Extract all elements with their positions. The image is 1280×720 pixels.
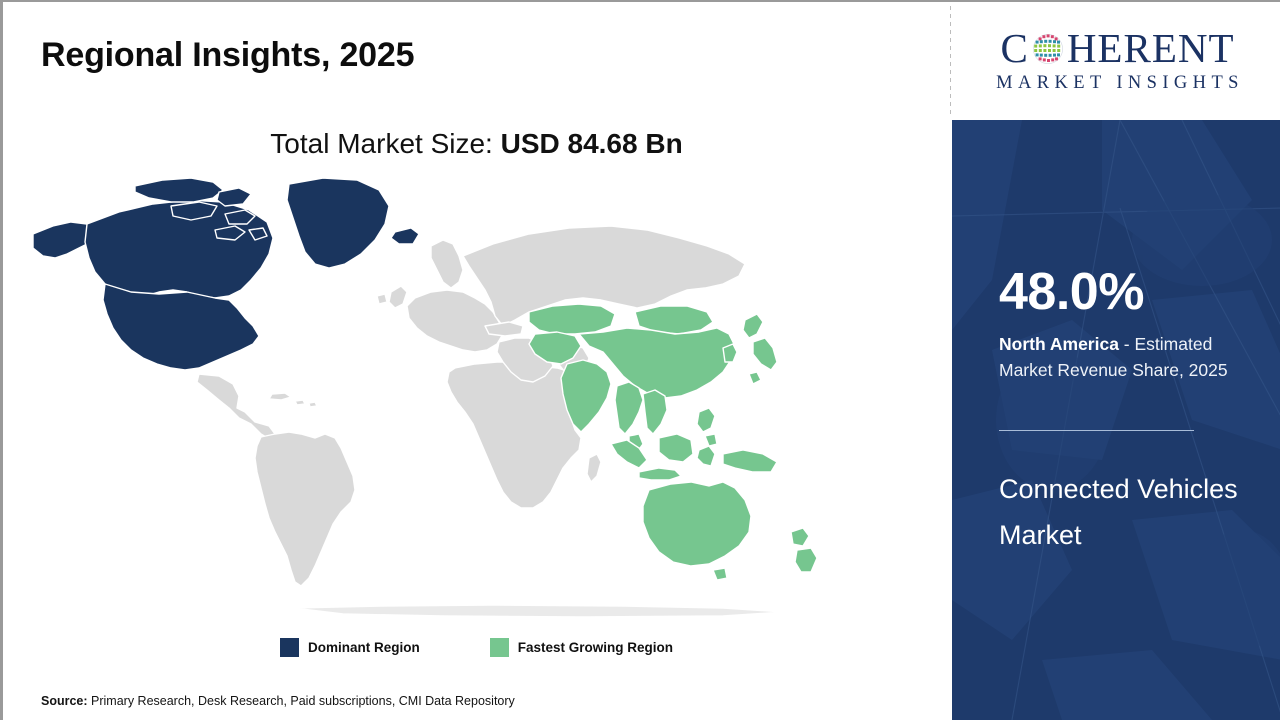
logo-wordmark: C xyxy=(1000,28,1234,69)
world-map-container xyxy=(23,172,923,622)
total-market-size: Total Market Size: USD 84.68 Bn xyxy=(3,128,950,160)
stat-percentage: 48.0% xyxy=(999,266,1144,318)
legend-swatch-dominant xyxy=(280,638,299,657)
vertical-divider xyxy=(950,6,951,118)
legend-swatch-fastest-growing xyxy=(490,638,509,657)
market-name: Connected Vehicles Market xyxy=(999,467,1249,559)
world-map-svg xyxy=(23,172,923,622)
left-content-pane: Regional Insights, 2025 Total Market Siz… xyxy=(3,2,950,720)
market-size-value: USD 84.68 Bn xyxy=(501,128,683,159)
right-sidebar: C xyxy=(952,2,1280,720)
logo-letter-c: C xyxy=(1000,28,1028,69)
stat-divider-rule xyxy=(999,430,1194,431)
stat-panel-content: 48.0% North America - Estimated Market R… xyxy=(999,120,1261,720)
legend-item-dominant: Dominant Region xyxy=(280,638,420,657)
globe-icon xyxy=(1030,31,1066,67)
legend-label-dominant: Dominant Region xyxy=(308,640,420,655)
logo-word-herent: HERENT xyxy=(1067,28,1235,69)
legend-item-fastest-growing: Fastest Growing Region xyxy=(490,638,673,657)
map-legend: Dominant Region Fastest Growing Region xyxy=(3,638,950,657)
stat-description: North America - Estimated Market Revenue… xyxy=(999,332,1263,383)
source-note: Source: Primary Research, Desk Research,… xyxy=(41,694,515,708)
stat-region-name: North America xyxy=(999,334,1119,354)
source-label: Source: xyxy=(41,694,88,708)
page-title: Regional Insights, 2025 xyxy=(41,36,414,75)
source-text: Primary Research, Desk Research, Paid su… xyxy=(88,694,515,708)
stat-panel: 48.0% North America - Estimated Market R… xyxy=(952,120,1280,720)
logo-subtitle: MARKET INSIGHTS xyxy=(991,73,1244,94)
brand-logo: C xyxy=(952,2,1280,120)
map-region-dominant xyxy=(33,178,419,370)
market-size-label: Total Market Size: xyxy=(270,128,500,159)
legend-label-fastest-growing: Fastest Growing Region xyxy=(518,640,673,655)
regional-insights-infographic: Regional Insights, 2025 Total Market Siz… xyxy=(0,0,1280,720)
